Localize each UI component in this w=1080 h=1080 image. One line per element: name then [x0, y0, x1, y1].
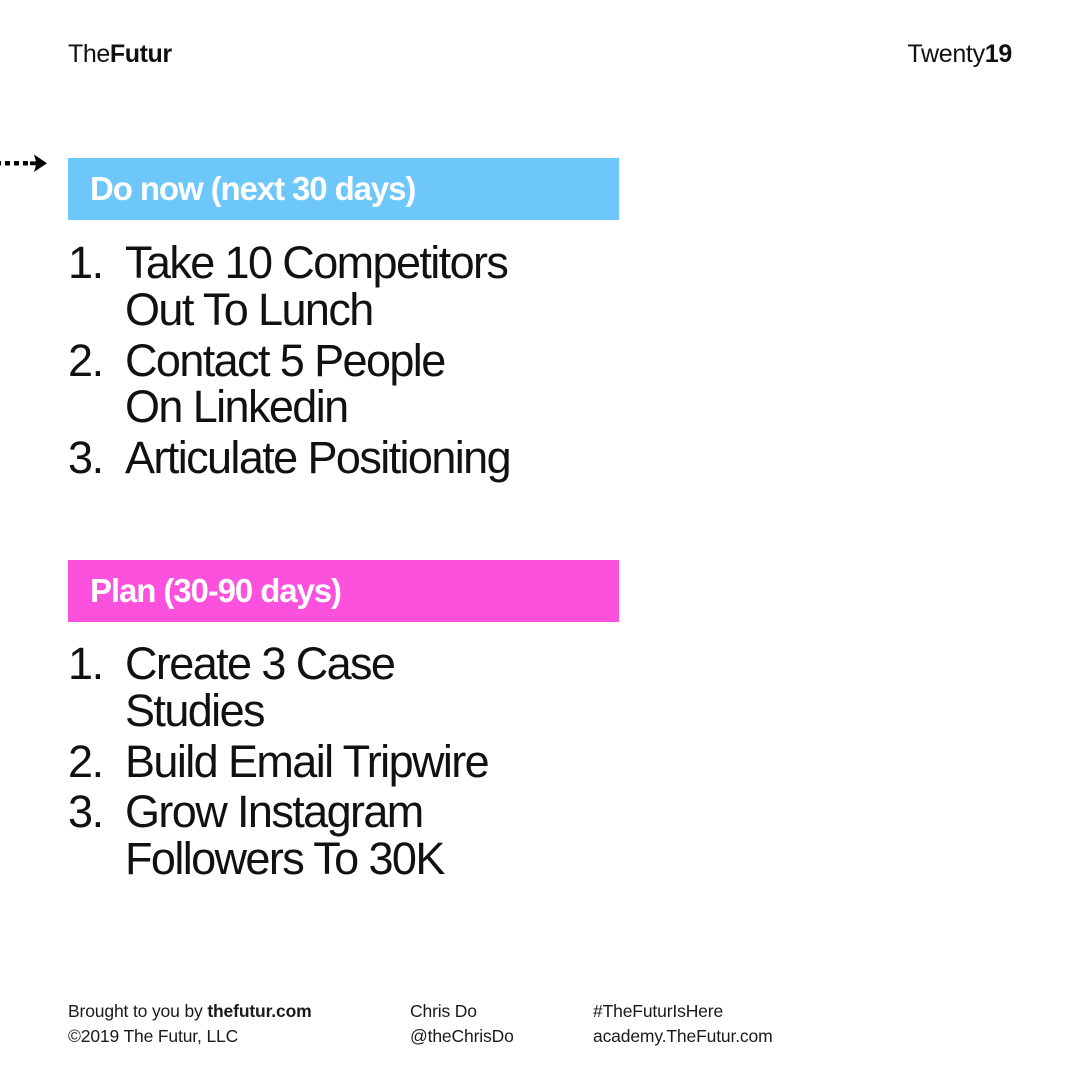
list-item: 2. Contact 5 People On Linkedin	[68, 338, 688, 432]
slide-canvas: TheFutur Twenty19 Do now (next 30 days) …	[0, 0, 1080, 1080]
footer-brand-column: Brought to you by thefutur.com ©2019 The…	[68, 999, 312, 1049]
footer-person-handle[interactable]: @theChrisDo	[410, 1024, 514, 1049]
footer-copyright: ©2019 The Futur, LLC	[68, 1024, 312, 1049]
task-text: Take 10 Competitors Out To Lunch	[125, 240, 507, 334]
brand-logo-bold: Futur	[110, 40, 172, 68]
dotted-arrow-right-icon	[0, 146, 52, 180]
list-item: 2. Build Email Tripwire	[68, 739, 688, 786]
task-list-plan: 1. Create 3 Case Studies 2. Build Email …	[68, 641, 688, 887]
section-heading-do-now: Do now (next 30 days)	[68, 172, 415, 205]
brand-logo: TheFutur	[68, 42, 172, 67]
task-number: 2.	[68, 338, 125, 385]
footer: Brought to you by thefutur.com ©2019 The…	[68, 999, 1012, 1051]
task-number: 3.	[68, 435, 125, 482]
list-item: 3. Articulate Positioning	[68, 435, 688, 482]
task-text: Articulate Positioning	[125, 435, 510, 482]
year-mark-light: Twenty	[907, 40, 984, 68]
footer-brand-prefix: Brought to you by	[68, 1001, 207, 1021]
brand-logo-light: The	[68, 40, 110, 68]
footer-hashtag[interactable]: #TheFuturIsHere	[593, 999, 773, 1024]
footer-person-column: Chris Do @theChrisDo	[410, 999, 514, 1049]
footer-brand-line1: Brought to you by thefutur.com	[68, 999, 312, 1024]
footer-social-column: #TheFuturIsHere academy.TheFutur.com	[593, 999, 773, 1049]
section-bar-plan: Plan (30-90 days)	[68, 560, 619, 622]
task-text: Create 3 Case Studies	[125, 641, 394, 735]
list-item: 3. Grow Instagram Followers To 30K	[68, 789, 688, 883]
task-list-do-now: 1. Take 10 Competitors Out To Lunch 2. C…	[68, 240, 688, 486]
task-number: 1.	[68, 641, 125, 688]
task-text: Contact 5 People On Linkedin	[125, 338, 445, 432]
task-number: 2.	[68, 739, 125, 786]
list-item: 1. Take 10 Competitors Out To Lunch	[68, 240, 688, 334]
year-mark-bold: 19	[985, 40, 1012, 68]
list-item: 1. Create 3 Case Studies	[68, 641, 688, 735]
year-mark: Twenty19	[907, 42, 1012, 67]
task-text: Grow Instagram Followers To 30K	[125, 789, 444, 883]
task-number: 1.	[68, 240, 125, 287]
task-number: 3.	[68, 789, 125, 836]
footer-person-name: Chris Do	[410, 999, 514, 1024]
footer-academy-url[interactable]: academy.TheFutur.com	[593, 1024, 773, 1049]
footer-brand-url[interactable]: thefutur.com	[207, 1001, 311, 1021]
section-bar-do-now: Do now (next 30 days)	[68, 158, 619, 220]
task-text: Build Email Tripwire	[125, 739, 488, 786]
section-heading-plan: Plan (30-90 days)	[68, 574, 341, 607]
